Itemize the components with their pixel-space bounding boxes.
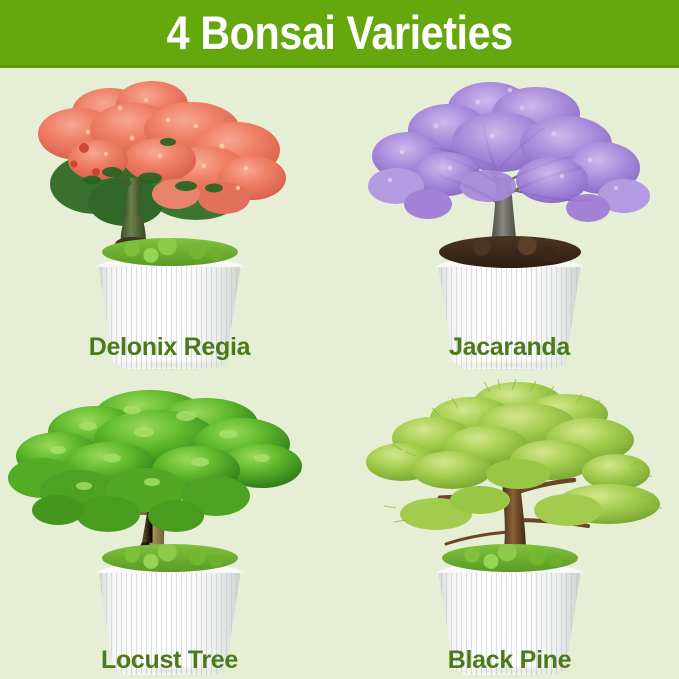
varieties-grid: Delonix Regia bbox=[0, 68, 679, 679]
substrate-moss-locust bbox=[102, 544, 238, 572]
variety-label-delonix-regia: Delonix Regia bbox=[0, 335, 339, 360]
substrate-moss-delonix bbox=[102, 238, 238, 266]
variety-card-black-pine: Black Pine bbox=[340, 374, 679, 679]
page-title: 4 Bonsai Varieties bbox=[166, 9, 512, 56]
variety-card-locust-tree: Locust Tree bbox=[0, 374, 339, 679]
header-banner: 4 Bonsai Varieties bbox=[0, 0, 679, 68]
variety-label-locust-tree: Locust Tree bbox=[0, 648, 339, 673]
substrate-moss-black-pine bbox=[442, 544, 578, 572]
bonsai-varieties-poster: 4 Bonsai Varieties bbox=[0, 0, 679, 679]
substrate-soil-jacaranda bbox=[439, 236, 581, 268]
variety-card-delonix-regia: Delonix Regia bbox=[0, 68, 339, 373]
variety-label-jacaranda: Jacaranda bbox=[340, 335, 679, 360]
variety-label-black-pine: Black Pine bbox=[340, 648, 679, 673]
variety-card-jacaranda: Jacaranda bbox=[340, 68, 679, 373]
